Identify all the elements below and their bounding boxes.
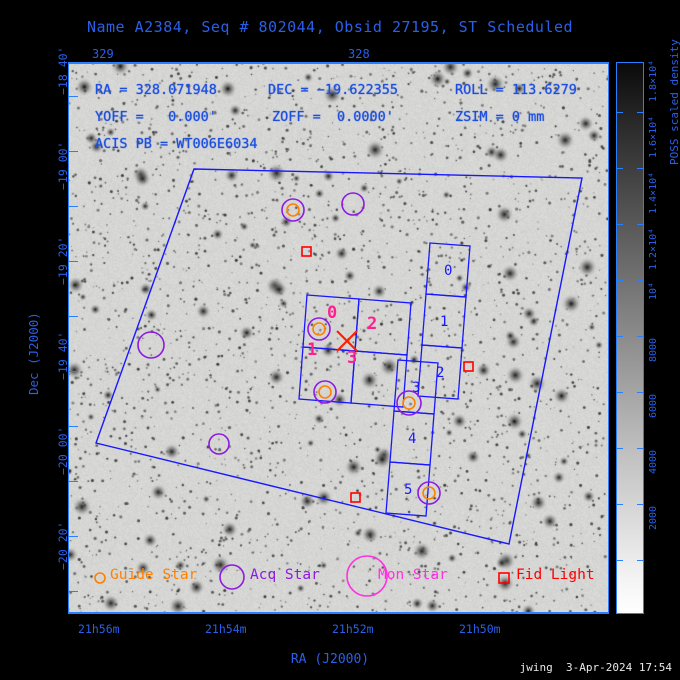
acis-i-chip-2 (355, 299, 411, 355)
x-tick-3: 21h50m (459, 622, 501, 636)
y-tick-0: −18 40' (56, 47, 70, 95)
acis-s-label-5: 5 (404, 482, 412, 498)
y-tick-3: −19 40' (56, 332, 70, 380)
colorbar-tick-5: 1.2×10⁴ (648, 228, 659, 270)
legend-fid-light-icon (499, 573, 509, 583)
y-tick-1: −19 00' (56, 142, 70, 190)
x-tick-0: 21h56m (78, 622, 120, 636)
acis-s-label-2: 2 (436, 365, 444, 381)
acq-star (308, 318, 330, 340)
legend-label-acq-star: Acq Star (250, 567, 320, 583)
credit-stamp: jwing 3-Apr-2024 17:54 (520, 661, 672, 674)
acq-star (282, 199, 304, 221)
guide-star (403, 397, 415, 409)
colorbar-tick-8: 1.8×10⁴ (648, 60, 659, 102)
dec-readout: DEC = −19.622355 (268, 82, 398, 98)
legend-label-fid-light: Fid Light (516, 567, 595, 583)
yoff-readout: YOFF = 0.000' (95, 109, 217, 125)
x-tick-1: 21h54m (205, 622, 247, 636)
acq-star (209, 434, 229, 454)
colorbar-tick-2: 6000 (648, 394, 659, 418)
zoff-readout: ZOFF = 0.0000' (272, 109, 394, 125)
ra-readout: RA = 328.071948 (95, 82, 217, 98)
x-tick-2: 21h52m (332, 622, 374, 636)
colorbar-tick-7: 1.6×10⁴ (648, 116, 659, 158)
colorbar-label: POSS scaled density (668, 39, 680, 165)
colorbar-tick-3: 8000 (648, 338, 659, 362)
fid-light (464, 362, 473, 371)
acis-i-label-2: 2 (367, 314, 377, 334)
page-title: Name A2384, Seq # 802044, Obsid 27195, S… (0, 18, 660, 36)
acis-i-label-0: 0 (327, 303, 337, 323)
chandra-fov-outline (96, 169, 582, 544)
guide-star (287, 204, 299, 216)
acq-star (314, 381, 336, 403)
acis-i-label-1: 1 (307, 340, 317, 360)
acis-s-label-4: 4 (408, 431, 416, 447)
acq-star (342, 193, 364, 215)
acis-s-label-1: 1 (440, 314, 448, 330)
acq-star (138, 332, 164, 358)
acq-stars (138, 193, 440, 504)
roll-readout: ROLL = 113.6279 (455, 82, 577, 98)
acis-s-label-0: 0 (444, 263, 452, 279)
legend-acq-star-icon (220, 565, 244, 589)
guide-star (319, 386, 331, 398)
colorbar-tick-1: 4000 (648, 450, 659, 474)
acis-pb-readout: ACIS PB = WT006E6034 (95, 136, 258, 152)
legend-label-guide-star: Guide Star (110, 567, 197, 583)
zsim-readout: ZSIM = 0 mm (455, 109, 544, 125)
colorbar-tick-6: 1.4×10⁴ (648, 172, 659, 214)
legend-label-mon-star: Mon Star (378, 567, 448, 583)
top-axis-tick-1: 328 (348, 47, 370, 61)
observation-plot-window: Name A2384, Seq # 802044, Obsid 27195, S… (0, 0, 680, 680)
acis-s-chip-labels: 0 1 2 3 4 5 (404, 263, 452, 498)
guide-star (313, 323, 325, 335)
acis-s-array (386, 243, 470, 516)
y-tick-5: −20 20' (56, 522, 70, 570)
acq-star (397, 391, 421, 415)
y-axis-label: Dec (J2000) (26, 312, 41, 395)
fid-light (351, 493, 360, 502)
colorbar-tick-4: 10⁴ (648, 282, 659, 300)
y-tick-2: −19 20' (56, 237, 70, 285)
fid-lights (302, 247, 473, 502)
colorbar-tick-0: 2000 (648, 506, 659, 530)
legend-guide-star-icon (95, 573, 105, 583)
y-tick-4: −20 00' (56, 427, 70, 475)
top-axis-tick-0: 329 (92, 47, 114, 61)
colorbar (616, 62, 644, 614)
fid-light (302, 247, 311, 256)
guide-star (423, 487, 435, 499)
